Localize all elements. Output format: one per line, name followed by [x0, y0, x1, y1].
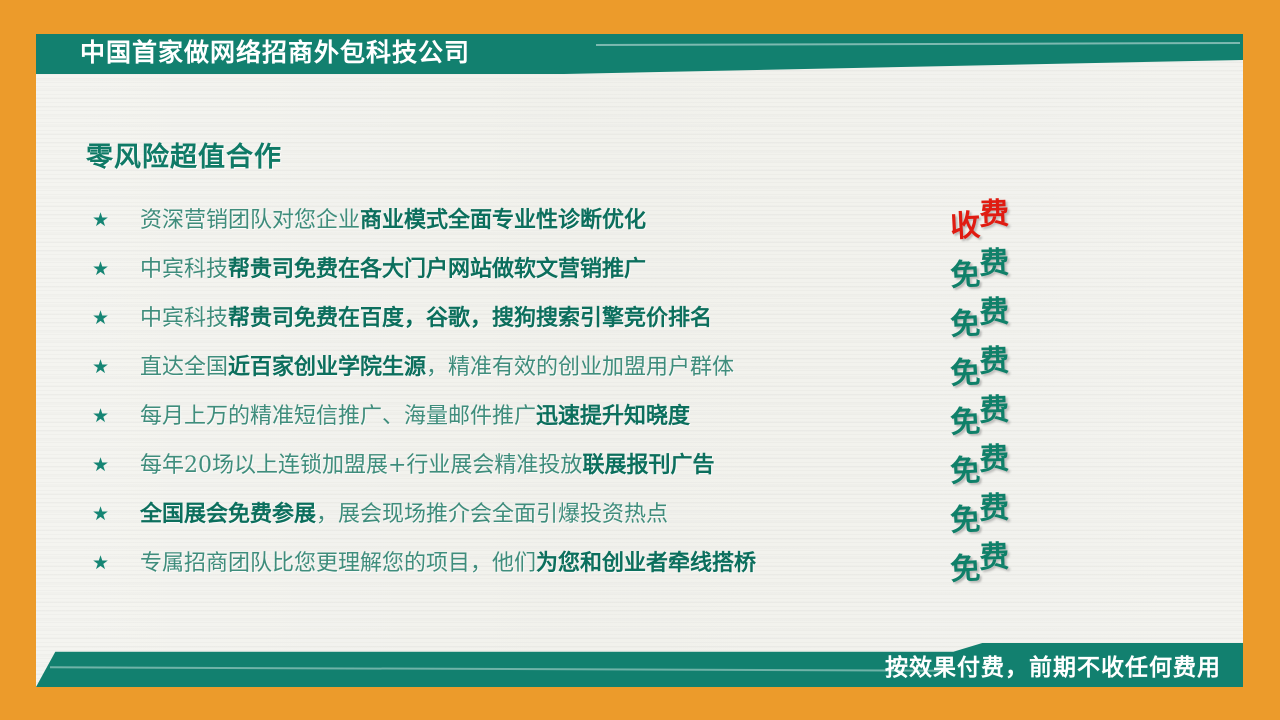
list-item-text-plain-tail: ，展会现场推介会全面引爆投资热点: [316, 502, 668, 527]
star-icon: ★: [92, 294, 109, 343]
star-icon: ★: [92, 343, 109, 392]
list-item-text-plain: 中宾科技: [140, 306, 228, 331]
price-badge-char: 费: [978, 238, 1009, 283]
price-badge: 免费: [950, 294, 1070, 343]
price-badge-char: 免: [949, 298, 980, 343]
price-badge-char: 免: [949, 396, 980, 441]
list-item-text-emphasis: 商业模式全面专业性诊断优化: [360, 207, 646, 233]
list-item-text-plain: 每月上万的精准短信推广、海量邮件推广: [140, 404, 536, 429]
price-badge-char: 费: [978, 336, 1009, 381]
list-item: ★全国展会免费参展，展会现场推介会全面引爆投资热点: [86, 490, 1086, 539]
price-badge: 免费: [950, 343, 1070, 392]
list-item-text-plain: 每年20场以上连锁加盟展+行业展会精准投放: [140, 453, 582, 478]
list-item-text: 每月上万的精准短信推广、海量邮件推广迅速提升知晓度: [140, 392, 690, 441]
list-item-text: 直达全国近百家创业学院生源，精准有效的创业加盟用户群体: [140, 343, 734, 392]
price-badge-char: 费: [978, 483, 1009, 528]
list-item-text-plain: 资深营销团队对您企业: [140, 208, 360, 233]
price-column: 收费免费免费免费免费免费免费免费: [950, 196, 1070, 588]
price-badge: 免费: [950, 539, 1070, 588]
price-badge-char: 收: [949, 200, 980, 245]
list-item: ★每年20场以上连锁加盟展+行业展会精准投放联展报刊广告: [86, 441, 1086, 490]
list-item-text-emphasis: 迅速提升知晓度: [536, 403, 690, 429]
list-item-text-plain: 直达全国: [140, 355, 228, 380]
price-badge-char: 免: [949, 249, 980, 294]
price-badge: 免费: [950, 245, 1070, 294]
list-item: ★资深营销团队对您企业商业模式全面专业性诊断优化: [86, 196, 1086, 245]
list-item-text: 中宾科技帮贵司免费在各大门户网站做软文营销推广: [140, 245, 646, 294]
footer-title: 按效果付费，前期不收任何费用: [885, 643, 1221, 691]
star-icon: ★: [92, 539, 109, 588]
list-item-text: 专属招商团队比您更理解您的项目，他们为您和创业者牵线搭桥: [140, 539, 756, 588]
price-badge: 收费: [950, 196, 1070, 245]
list-item-text: 每年20场以上连锁加盟展+行业展会精准投放联展报刊广告: [140, 441, 714, 490]
list-item: ★专属招商团队比您更理解您的项目，他们为您和创业者牵线搭桥: [86, 539, 1086, 588]
header-banner: 中国首家做网络招商外包科技公司: [36, 34, 1243, 76]
header-title: 中国首家做网络招商外包科技公司: [80, 32, 470, 74]
list-item-text-emphasis: 联展报刊广告: [582, 452, 714, 478]
star-icon: ★: [92, 245, 109, 294]
price-badge-char: 免: [949, 445, 980, 490]
star-icon: ★: [92, 392, 109, 441]
list-item-text-plain-tail: ，精准有效的创业加盟用户群体: [426, 355, 734, 380]
list-item-text: 中宾科技帮贵司免费在百度，谷歌，搜狗搜索引擎竞价排名: [140, 294, 712, 343]
list-item-text: 全国展会免费参展，展会现场推介会全面引爆投资热点: [140, 490, 668, 539]
price-badge-char: 免: [949, 543, 980, 588]
list-item-text: 资深营销团队对您企业商业模式全面专业性诊断优化: [140, 196, 646, 245]
list-item: ★直达全国近百家创业学院生源，精准有效的创业加盟用户群体: [86, 343, 1086, 392]
list-item-text-emphasis: 帮贵司免费在百度，谷歌，搜狗搜索引擎竞价排名: [228, 305, 712, 331]
benefit-list: ★资深营销团队对您企业商业模式全面专业性诊断优化★中宾科技帮贵司免费在各大门户网…: [86, 196, 1086, 588]
list-item: ★中宾科技帮贵司免费在各大门户网站做软文营销推广: [86, 245, 1086, 294]
price-badge-char: 费: [978, 532, 1009, 577]
footer-banner: 按效果付费，前期不收任何费用: [36, 643, 1243, 687]
list-item-text-emphasis: 全国展会免费参展: [140, 501, 316, 527]
list-item: ★中宾科技帮贵司免费在百度，谷歌，搜狗搜索引擎竞价排名: [86, 294, 1086, 343]
price-badge-char: 免: [949, 494, 980, 539]
list-item-text-plain: 中宾科技: [140, 257, 228, 282]
star-icon: ★: [92, 441, 109, 490]
price-badge: 免费: [950, 490, 1070, 539]
slide-root: 中国首家做网络招商外包科技公司 零风险超值合作 ★资深营销团队对您企业商业模式全…: [0, 0, 1280, 720]
star-icon: ★: [92, 196, 109, 245]
star-icon: ★: [92, 490, 109, 539]
price-badge-char: 费: [978, 189, 1009, 234]
price-badge-char: 费: [978, 434, 1009, 479]
list-item-text-emphasis: 为您和创业者牵线搭桥: [536, 550, 756, 576]
list-item-text-emphasis: 近百家创业学院生源: [228, 354, 426, 380]
list-item-text-emphasis: 帮贵司免费在各大门户网站做软文营销推广: [228, 256, 646, 282]
list-item-text-plain: 专属招商团队比您更理解您的项目，他们: [140, 551, 536, 576]
price-badge-char: 免: [949, 347, 980, 392]
price-badge: 免费: [950, 441, 1070, 490]
list-item: ★每月上万的精准短信推广、海量邮件推广迅速提升知晓度: [86, 392, 1086, 441]
price-badge: 免费: [950, 392, 1070, 441]
price-badge-char: 费: [978, 287, 1009, 332]
page-title: 零风险超值合作: [86, 135, 282, 174]
header-banner-shape: [526, 34, 1243, 74]
price-badge-char: 费: [978, 385, 1009, 430]
